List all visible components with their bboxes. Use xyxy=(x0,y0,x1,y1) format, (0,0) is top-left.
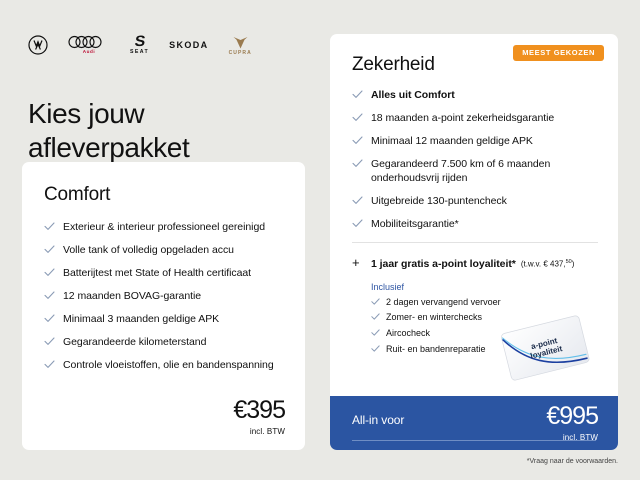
list-item: Ruit- en bandenreparatie xyxy=(371,344,618,356)
seat-logo-icon: S SEAT xyxy=(130,34,149,55)
plus-icon: + xyxy=(352,256,365,269)
check-icon xyxy=(44,337,57,346)
check-icon xyxy=(352,113,365,122)
bonus-label: 1 jaar gratis a-point loyaliteit* xyxy=(371,258,516,270)
check-icon xyxy=(44,291,57,300)
list-item: Controle vloeistoffen, olie en bandenspa… xyxy=(44,359,285,373)
volkswagen-logo-icon xyxy=(28,35,48,55)
feature-text: Gegarandeerde kilometerstand xyxy=(63,336,206,350)
feature-text: 12 maanden BOVAG-garantie xyxy=(63,290,201,304)
brand-logo-strip: Audi S SEAT SKODA CUPRA xyxy=(28,31,252,59)
feature-text: Alles uit Comfort xyxy=(371,89,455,103)
list-item: Minimaal 12 maanden geldige APK xyxy=(352,135,600,149)
feature-text: Minimaal 12 maanden geldige APK xyxy=(371,135,533,149)
list-item: Exterieur & interieur professioneel gere… xyxy=(44,221,285,235)
feature-text: Batterijtest met State of Health certifi… xyxy=(63,267,251,281)
comfort-price-amount: €395 xyxy=(233,398,285,423)
feature-text: Exterieur & interieur professioneel gere… xyxy=(63,221,265,235)
list-item: Uitgebreide 130-puntencheck xyxy=(352,195,600,209)
list-item: Gegarandeerde kilometerstand xyxy=(44,336,285,350)
bonus-value-prefix: (t.w.v. € 437, xyxy=(521,260,566,269)
list-item: Alles uit Comfort xyxy=(352,89,600,103)
check-icon xyxy=(44,268,57,277)
feature-text: Minimaal 3 maanden geldige APK xyxy=(63,313,219,327)
check-icon xyxy=(371,345,381,353)
zekerheid-price-amount: €995 xyxy=(546,404,598,429)
check-icon xyxy=(352,90,365,99)
seat-wordmark: SEAT xyxy=(130,50,149,55)
list-item: 2 dagen vervangend vervoer xyxy=(371,297,618,309)
inclusief-text: Aircocheck xyxy=(386,328,430,340)
skoda-wordmark: SKODA xyxy=(169,41,209,50)
bonus-row: + 1 jaar gratis a-point loyaliteit* (t.w… xyxy=(352,256,600,270)
feature-text: Mobiliteitsgarantie* xyxy=(371,218,459,232)
list-item: Batterijtest met State of Health certifi… xyxy=(44,267,285,281)
comfort-price-block: €395 incl. BTW xyxy=(233,398,285,436)
check-icon xyxy=(371,329,381,337)
feature-text: Volle tank of volledig opgeladen accu xyxy=(63,244,234,258)
page-root: Audi S SEAT SKODA CUPRA Kies jouw afleve… xyxy=(0,0,640,480)
cupra-logo-icon: CUPRA xyxy=(229,35,252,56)
list-item: Aircocheck xyxy=(371,328,618,340)
list-item: Volle tank of volledig opgeladen accu xyxy=(44,244,285,258)
skoda-logo-icon: SKODA xyxy=(169,41,209,50)
package-card-zekerheid[interactable]: MEEST GEKOZEN Zekerheid Alles uit Comfor… xyxy=(330,34,618,450)
feature-text: Uitgebreide 130-puntencheck xyxy=(371,195,507,209)
footnote: *Vraag naar de voorwaarden. xyxy=(527,458,618,465)
check-icon xyxy=(352,219,365,228)
zekerheid-price-footer: All-in voor €995 incl. BTW xyxy=(330,396,618,450)
check-icon xyxy=(371,313,381,321)
package-card-comfort[interactable]: Comfort Exterieur & interieur profession… xyxy=(22,162,305,450)
list-item: Minimaal 3 maanden geldige APK xyxy=(44,313,285,327)
feature-text: 18 maanden a-point zekerheidsgarantie xyxy=(371,112,554,126)
inclusief-text: 2 dagen vervangend vervoer xyxy=(386,297,501,309)
inclusief-title: Inclusief xyxy=(371,282,618,292)
list-item: 12 maanden BOVAG-garantie xyxy=(44,290,285,304)
list-item: Zomer- en winterchecks xyxy=(371,312,618,324)
audi-wordmark: Audi xyxy=(83,50,96,55)
check-icon xyxy=(44,360,57,369)
check-icon xyxy=(371,298,381,306)
comfort-price-subtext: incl. BTW xyxy=(233,427,285,436)
allin-label: All-in voor xyxy=(352,413,404,427)
zekerheid-feature-list: Alles uit Comfort 18 maanden a-point zek… xyxy=(352,89,600,232)
price-underline xyxy=(352,440,596,441)
check-icon xyxy=(352,136,365,145)
seat-mark: S xyxy=(134,34,146,49)
page-title-line-1: Kies jouw xyxy=(28,97,288,131)
check-icon xyxy=(44,245,57,254)
page-title: Kies jouw afleverpakket xyxy=(28,97,288,165)
comfort-feature-list: Exterieur & interieur professioneel gere… xyxy=(44,221,285,373)
inclusief-list: 2 dagen vervangend vervoer Zomer- en win… xyxy=(371,297,618,356)
list-item: Mobiliteitsgarantie* xyxy=(352,218,600,232)
bonus-value-suffix: ) xyxy=(572,260,575,269)
cupra-wordmark: CUPRA xyxy=(229,51,252,56)
check-icon xyxy=(44,314,57,323)
comfort-card-title: Comfort xyxy=(44,184,305,206)
check-icon xyxy=(352,159,365,168)
inclusief-text: Zomer- en winterchecks xyxy=(386,312,482,324)
feature-text: Controle vloeistoffen, olie en bandenspa… xyxy=(63,359,274,373)
inclusief-section: Inclusief 2 dagen vervangend vervoer Zom… xyxy=(371,282,618,356)
section-divider xyxy=(352,242,598,243)
bonus-value: (t.w.v. € 437,50) xyxy=(521,259,575,269)
feature-text: Gegarandeerd 7.500 km of 6 maanden onder… xyxy=(371,158,600,186)
check-icon xyxy=(352,196,365,205)
list-item: Gegarandeerd 7.500 km of 6 maanden onder… xyxy=(352,158,600,186)
zekerheid-price-block: €995 incl. BTW xyxy=(546,404,598,442)
audi-logo-icon: Audi xyxy=(68,35,110,55)
inclusief-text: Ruit- en bandenreparatie xyxy=(386,344,486,356)
status-badge: MEEST GEKOZEN xyxy=(513,45,604,61)
list-item: 18 maanden a-point zekerheidsgarantie xyxy=(352,112,600,126)
page-title-line-2: afleverpakket xyxy=(28,131,288,165)
check-icon xyxy=(44,222,57,231)
